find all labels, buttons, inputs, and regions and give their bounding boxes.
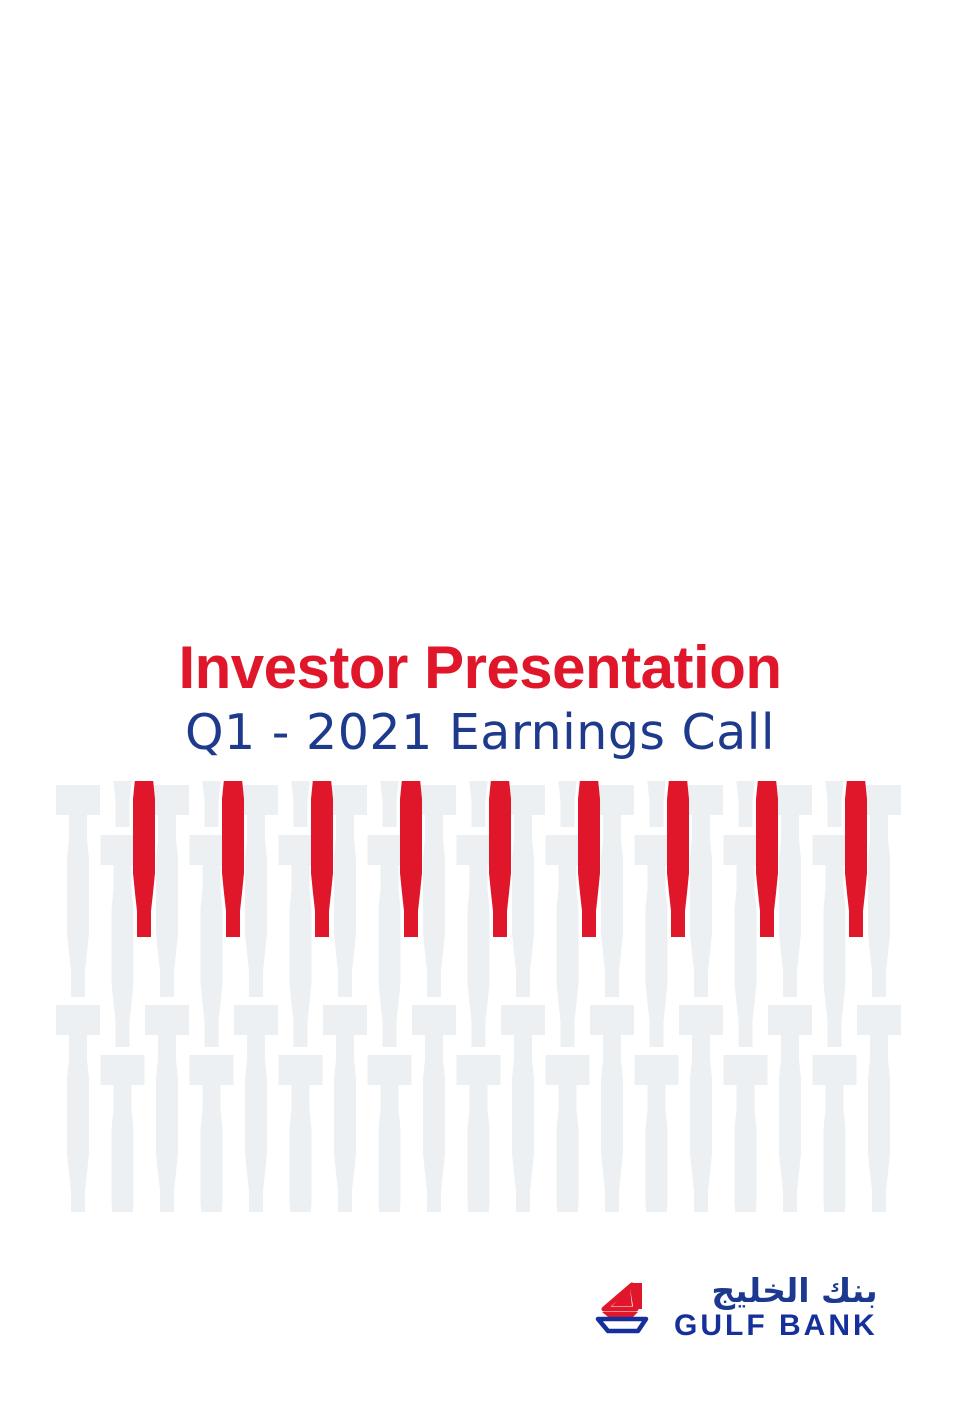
page-title: Investor Presentation bbox=[0, 636, 960, 700]
logo-arabic-name: بنك الخليج bbox=[674, 1273, 878, 1309]
gulf-bank-logo: بنك الخليج GULF BANK bbox=[592, 1268, 892, 1346]
page-subtitle: Q1 - 2021 Earnings Call bbox=[0, 702, 960, 764]
title-block: Investor Presentation Q1 - 2021 Earnings… bbox=[0, 636, 960, 764]
cover-slide: Investor Presentation Q1 - 2021 Earnings… bbox=[0, 0, 960, 1404]
logo-latin-name: GULF BANK bbox=[674, 1309, 878, 1342]
logo-wordmark: بنك الخليج GULF BANK bbox=[674, 1273, 878, 1342]
sail-boat-logo-icon bbox=[592, 1279, 664, 1335]
